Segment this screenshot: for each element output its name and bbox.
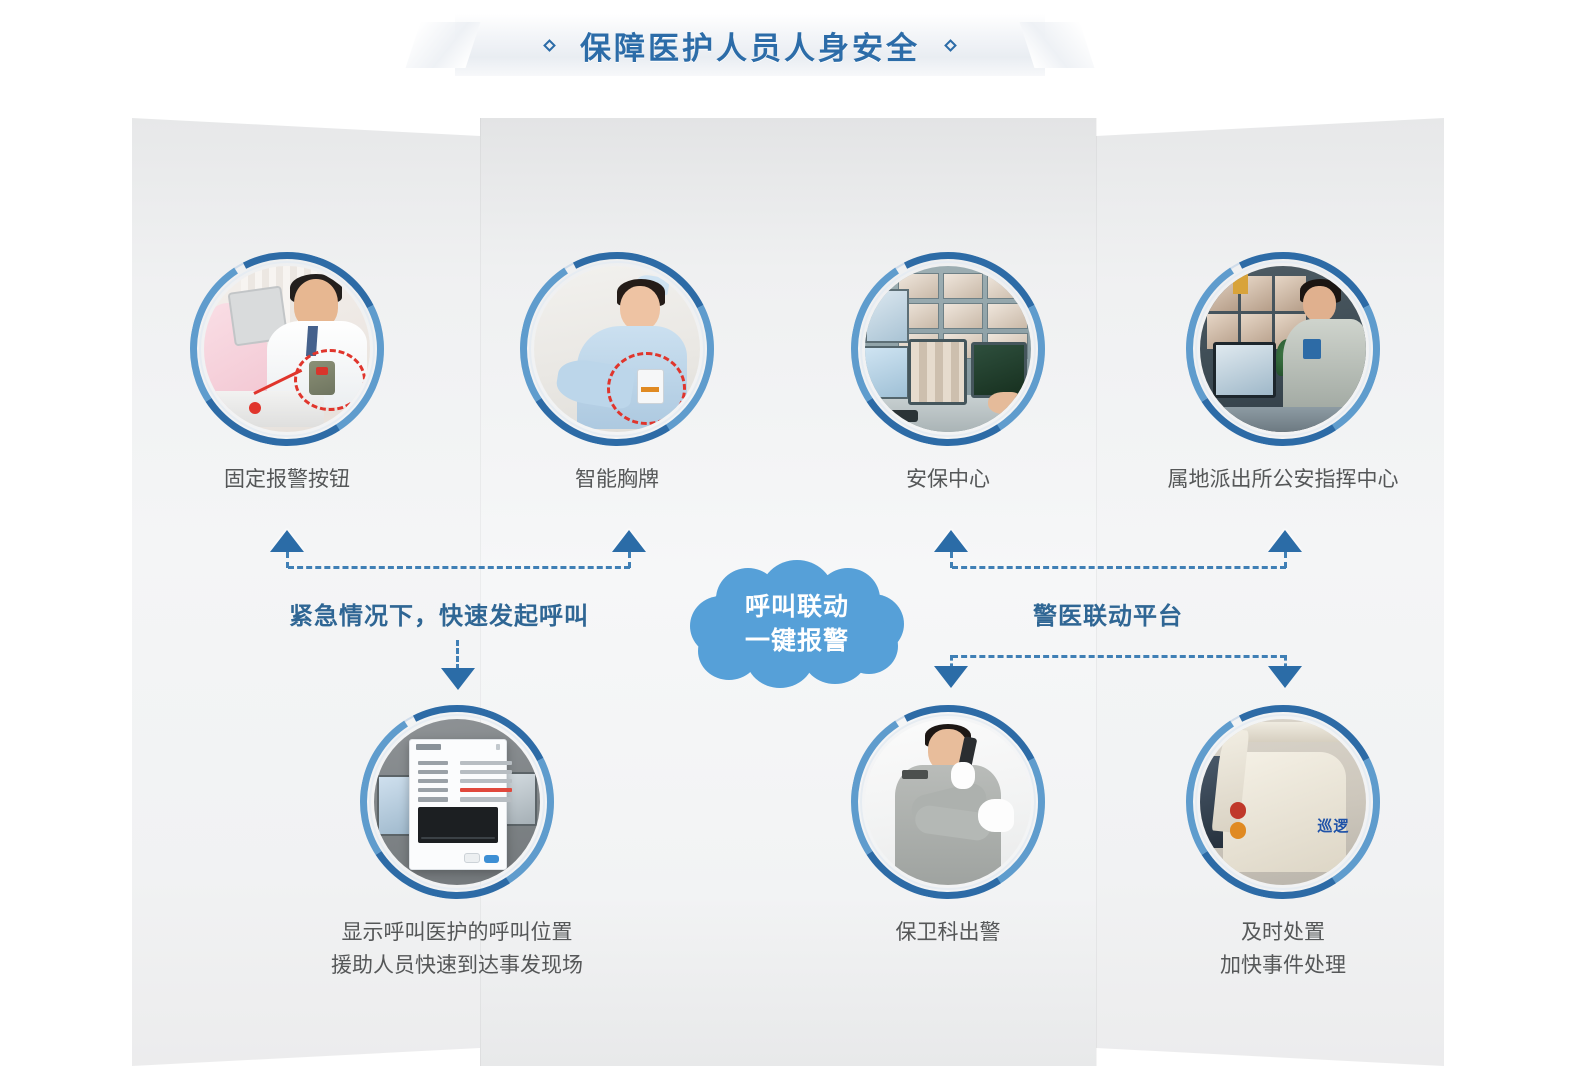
circle-frame	[851, 705, 1045, 899]
flow-dashed-stub	[1284, 552, 1287, 568]
node-photo: 巡逻	[1200, 719, 1366, 885]
node-label-line1: 显示呼叫医护的呼叫位置	[287, 917, 627, 950]
node-label: 安保中心	[906, 464, 990, 497]
node-photo	[534, 266, 700, 432]
node-label: 显示呼叫医护的呼叫位置 援助人员快速到达事发现场	[287, 917, 627, 982]
node-label-line1: 及时处置	[1133, 917, 1433, 950]
node-photo	[374, 719, 540, 885]
node-label: 固定报警按钮	[224, 464, 350, 497]
node-label-line2: 加快事件处理	[1133, 950, 1433, 983]
flow-dashed-stub	[628, 552, 631, 568]
node-label: 保卫科出警	[798, 917, 1098, 950]
node-label: 属地派出所公安指挥中心	[1168, 464, 1399, 497]
highlight-circle-icon	[294, 349, 366, 411]
node-photo	[204, 266, 370, 432]
flow-dashed-stub	[950, 552, 953, 568]
circle-frame	[1186, 252, 1380, 446]
cloud-line1: 呼叫联动	[745, 592, 849, 622]
page-title: 保障医护人员人身安全	[580, 23, 920, 68]
node-timely-handling[interactable]: 巡逻 及时处置 加快事件处理	[1186, 705, 1380, 899]
node-security-dispatch[interactable]: 保卫科出警	[851, 705, 1045, 899]
arrow-up-icon	[1268, 530, 1302, 552]
circle-frame	[190, 252, 384, 446]
cloud-callout: 呼叫联动 一键报警	[690, 560, 904, 688]
circle-frame	[360, 705, 554, 899]
flow-dashed-line	[288, 566, 630, 569]
arrow-up-icon	[612, 530, 646, 552]
flow-caption-right: 警医联动平台	[1033, 596, 1183, 631]
arrow-up-icon	[270, 530, 304, 552]
node-label: 智能胸牌	[575, 464, 659, 497]
cloud-line2: 一键报警	[745, 626, 849, 656]
node-photo	[1200, 266, 1366, 432]
diamond-icon	[944, 39, 957, 52]
node-photo	[865, 266, 1031, 432]
circle-frame: 巡逻	[1186, 705, 1380, 899]
node-label-line2: 援助人员快速到达事发现场	[287, 950, 627, 983]
flow-dashed-stub	[456, 640, 459, 670]
flow-dashed-stub	[286, 552, 289, 568]
node-security-center[interactable]: 安保中心	[851, 252, 1045, 446]
node-fixed-alarm-button[interactable]: 固定报警按钮	[190, 252, 384, 446]
node-label: 及时处置 加快事件处理	[1133, 917, 1433, 982]
circle-frame	[520, 252, 714, 446]
node-label-line1: 保卫科出警	[798, 917, 1098, 950]
arrow-down-icon	[934, 666, 968, 688]
highlight-circle-icon	[607, 352, 686, 424]
node-police-command-center[interactable]: 属地派出所公安指挥中心	[1186, 252, 1380, 446]
flow-caption-left: 紧急情况下，快速发起呼叫	[289, 596, 589, 631]
circle-frame	[851, 252, 1045, 446]
vehicle-marking: 巡逻	[1317, 815, 1349, 836]
arrow-up-icon	[934, 530, 968, 552]
page-title-banner: 保障医护人员人身安全	[455, 14, 1045, 76]
flow-dashed-line	[952, 655, 1286, 658]
node-call-location-display[interactable]: 显示呼叫医护的呼叫位置 援助人员快速到达事发现场	[360, 705, 554, 899]
arrow-down-icon	[1268, 666, 1302, 688]
node-photo	[865, 719, 1031, 885]
node-smart-badge[interactable]: 智能胸牌	[520, 252, 714, 446]
flow-dashed-line	[952, 566, 1286, 569]
arrow-down-icon	[441, 668, 475, 690]
diamond-icon	[543, 39, 556, 52]
